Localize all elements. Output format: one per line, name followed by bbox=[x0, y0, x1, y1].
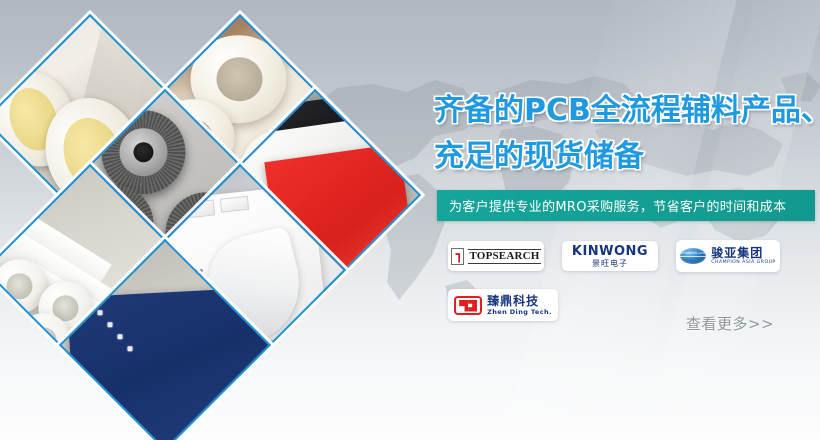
kinwong-wordmark-cn: 景旺电子 bbox=[572, 260, 648, 268]
champion-asia-globe-icon bbox=[680, 248, 706, 264]
champion-asia-wordmark-cn: 骏亚集团 bbox=[711, 247, 775, 259]
zhending-wordmark-en: Zhen Ding Tech. bbox=[487, 309, 552, 316]
partner-logo-champion-asia[interactable]: 骏亚集团 CHAMPION ASIA GROUP bbox=[676, 240, 780, 272]
kinwong-wordmark-en: KINWONG bbox=[572, 245, 648, 258]
partner-logo-topsearch[interactable]: TOPSEARCH bbox=[448, 241, 544, 271]
headline: 齐备的PCB全流程辅料产品、 充足的现货储备 bbox=[434, 88, 820, 180]
view-more-link[interactable]: 查看更多>> bbox=[686, 313, 774, 334]
subtitle-text: 为客户提供专业的MRO采购服务，节省客户的时间和成本 bbox=[437, 196, 786, 215]
subtitle-bar: 为客户提供专业的MRO采购服务，节省客户的时间和成本 bbox=[437, 190, 815, 221]
partner-logo-zhending[interactable]: 臻鼎科技 Zhen Ding Tech. bbox=[448, 289, 558, 321]
headline-line-1: 齐备的PCB全流程辅料产品、 bbox=[434, 88, 820, 134]
topsearch-wordmark: TOPSEARCH bbox=[468, 249, 540, 264]
champion-asia-wordmark-en: CHAMPION ASIA GROUP bbox=[711, 261, 775, 266]
product-diamond-grid: JIE bbox=[0, 0, 430, 440]
zhending-mark-icon bbox=[454, 296, 482, 315]
topsearch-mark-icon bbox=[451, 248, 464, 265]
partner-logo-kinwong[interactable]: KINWONG 景旺电子 bbox=[562, 241, 658, 271]
promo-banner: JIE 齐备的PCB全流程辅料产品、 充足的现货储备 为客户提供专业的MRO采购… bbox=[0, 0, 820, 440]
headline-line-2: 充足的现货储备 bbox=[434, 134, 820, 180]
zhending-wordmark-cn: 臻鼎科技 bbox=[487, 295, 552, 307]
